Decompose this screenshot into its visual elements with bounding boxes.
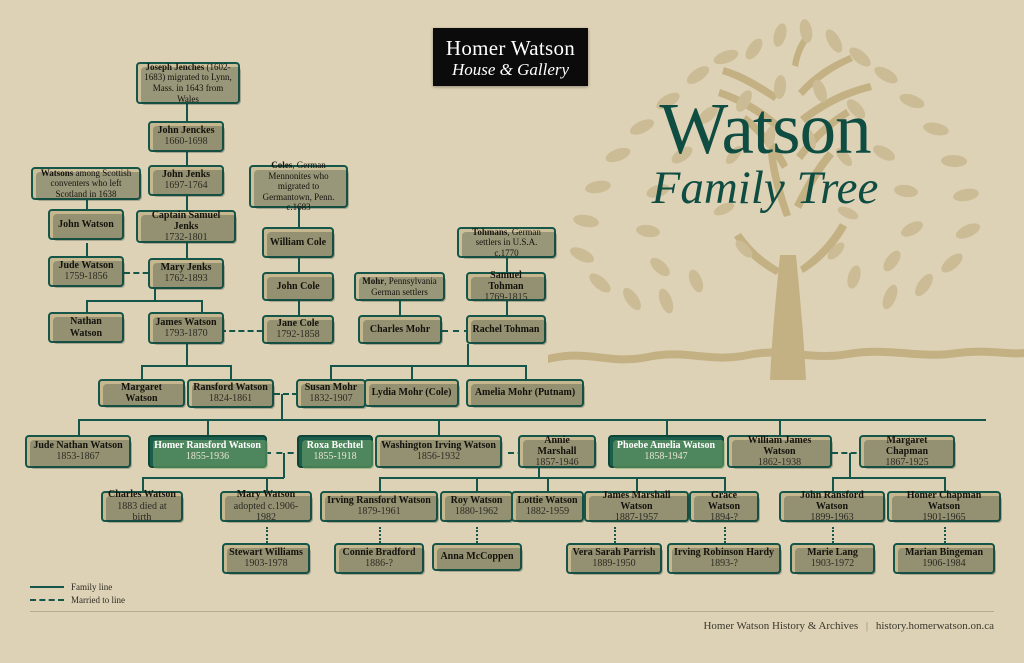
node-amelia-mohr[interactable]: Amelia Mohr (Putnam) xyxy=(466,379,584,407)
node-james-marshall-watson-dates: 1887-1957 xyxy=(615,512,658,524)
node-coles-note-text: Coles, German Mennonites who migrated to… xyxy=(255,160,342,213)
node-jude-nathan-watson[interactable]: Jude Nathan Watson 1853-1867 xyxy=(25,435,131,468)
node-mohr-note[interactable]: Mohr, Pennsylvania German settlers xyxy=(354,272,445,301)
node-john-ransford-watson-dates: 1899-1963 xyxy=(810,512,853,524)
node-jude-watson-name: Jude Watson xyxy=(58,260,113,271)
node-watsons-note[interactable]: Watsons among Scottish conventers who le… xyxy=(31,167,141,200)
children-bus-mohr xyxy=(330,365,526,367)
connector-to-ransford xyxy=(230,365,232,379)
node-vera-sarah-parrish-name: Vera Sarah Parrish xyxy=(573,547,656,558)
node-john-jenckes[interactable]: John Jenckes 1660-1698 xyxy=(148,121,224,152)
node-jude-nathan-watson-dates: 1853-1867 xyxy=(56,451,99,463)
node-ransford-watson-dates: 1824-1861 xyxy=(209,393,252,405)
connector-to-roy xyxy=(476,477,478,491)
node-stewart-williams[interactable]: Stewart Williams 1903-1978 xyxy=(222,543,310,574)
node-homer-ransford-watson-dates: 1855-1936 xyxy=(186,451,229,463)
node-stewart-williams-dates: 1903-1978 xyxy=(244,558,287,570)
node-phoebe-amelia-watson[interactable]: Phoebe Amelia Watson 1858-1947 xyxy=(608,435,724,468)
node-captain-samuel-jenks-dates: 1732-1801 xyxy=(164,232,207,244)
node-grace-watson[interactable]: Grace Watson 1894-? xyxy=(689,491,759,522)
connector-william-john-cole xyxy=(298,258,300,272)
connector-to-irving-ransford xyxy=(379,477,381,491)
marriage-grace-irving-hardy xyxy=(724,527,726,543)
node-watsons-note-text: Watsons among Scottish conventers who le… xyxy=(37,168,135,200)
node-stewart-williams-name: Stewart Williams xyxy=(229,547,303,558)
node-william-james-watson[interactable]: William James Watson 1862-1938 xyxy=(727,435,832,468)
node-joseph-jenches[interactable]: Joseph Jenches (1602-1683) migrated to L… xyxy=(136,62,240,104)
homer-watson-logo[interactable]: Homer Watson House & Gallery xyxy=(433,28,588,86)
connector-to-washington xyxy=(438,419,440,435)
node-mary-jenks-dates: 1762-1893 xyxy=(164,273,207,285)
node-vera-sarah-parrish[interactable]: Vera Sarah Parrish 1889-1950 xyxy=(566,543,662,574)
connector-ransford-susan-drop xyxy=(281,394,283,420)
connector-to-susan xyxy=(330,365,332,379)
node-jane-cole-name: Jane Cole xyxy=(277,318,319,329)
family-tree-poster: Watson Family Tree Homer Watson House & … xyxy=(0,0,1024,663)
node-margaret-watson[interactable]: Margaret Watson xyxy=(98,379,185,407)
node-vera-sarah-parrish-dates: 1889-1950 xyxy=(592,558,635,570)
node-homer-chapman-watson-name: Homer Chapman Watson xyxy=(893,490,995,512)
children-bus-jude-mary xyxy=(86,300,202,302)
connector-mohr-drop xyxy=(467,344,469,366)
children-bus-main xyxy=(78,419,986,421)
node-captain-samuel-jenks[interactable]: Captain Samuel Jenks 1732-1801 xyxy=(136,210,236,243)
node-annie-marshall-name: Annie Marshall xyxy=(524,435,590,457)
node-john-cole-name: John Cole xyxy=(276,281,319,292)
node-john-jenckes-dates: 1660-1698 xyxy=(164,136,207,148)
node-captain-samuel-jenks-name: Captain Samuel Jenks xyxy=(142,210,230,232)
node-anna-mccoppen[interactable]: Anna McCoppen xyxy=(432,543,522,571)
node-william-cole-name: William Cole xyxy=(270,237,326,248)
connector-samuel-mary xyxy=(186,243,188,258)
node-roy-watson[interactable]: Roy Watson 1880-1962 xyxy=(440,491,513,522)
node-charles-mohr[interactable]: Charles Mohr xyxy=(358,315,442,344)
node-homer-ransford-watson-name: Homer Ransford Watson xyxy=(154,440,261,451)
node-coles-note[interactable]: Coles, German Mennonites who migrated to… xyxy=(249,165,348,208)
node-irving-robinson-hardy[interactable]: Irving Robinson Hardy 1893-? xyxy=(667,543,781,574)
node-washington-irving-watson-dates: 1856-1932 xyxy=(417,451,460,463)
node-homer-chapman-watson-dates: 1901-1965 xyxy=(922,512,965,524)
marriage-john-marie xyxy=(832,527,834,543)
node-lydia-mohr[interactable]: Lydia Mohr (Cole) xyxy=(364,379,459,407)
node-jude-watson-dates: 1759-1856 xyxy=(64,271,107,283)
node-irving-ransford-watson-dates: 1879-1961 xyxy=(357,506,400,518)
node-james-watson[interactable]: James Watson 1793-1870 xyxy=(148,312,224,344)
node-marian-bingeman-name: Marian Bingeman xyxy=(905,547,983,558)
node-marie-lang-dates: 1903-1972 xyxy=(811,558,854,570)
connector-johncole-janecole xyxy=(298,301,300,315)
node-lottie-watson-dates: 1882-1959 xyxy=(526,506,569,518)
node-jane-cole[interactable]: Jane Cole 1792-1858 xyxy=(262,315,334,344)
marriage-irving-connie xyxy=(379,527,381,543)
footer-archive-label: Homer Watson History & Archives xyxy=(703,620,858,632)
node-charles-mohr-name: Charles Mohr xyxy=(370,324,430,335)
title-subtitle: Family Tree xyxy=(600,164,930,213)
node-charles-watson-dates: 1883 died at birth xyxy=(107,501,177,524)
node-roxa-bechtel-name: Roxa Bechtel xyxy=(307,440,363,451)
node-john-jenckes-name: John Jenckes xyxy=(158,125,215,136)
footer-website-link[interactable]: history.homerwatson.on.ca xyxy=(876,620,994,632)
node-roy-watson-dates: 1880-1962 xyxy=(455,506,498,518)
family-line-swatch xyxy=(30,586,64,588)
node-mohr-note-text: Mohr, Pennsylvania German settlers xyxy=(360,276,439,297)
node-james-marshall-watson-name: James Marshall Watson xyxy=(590,490,683,512)
node-irving-ransford-watson[interactable]: Irving Ransford Watson 1879-1961 xyxy=(320,491,438,522)
connector-to-jude-nathan xyxy=(78,419,80,435)
node-john-ransford-watson-name: John Ransford Watson xyxy=(785,490,879,512)
node-marian-bingeman[interactable]: Marian Bingeman 1906-1984 xyxy=(893,543,995,574)
node-connie-bradford-name: Connie Bradford xyxy=(342,547,415,558)
node-susan-mohr-name: Susan Mohr xyxy=(305,382,358,393)
title-main: Watson xyxy=(600,95,930,162)
node-tohmans-note-text: Tohmans, German settlers in U.S.A. c.177… xyxy=(463,227,550,259)
poster-title: Watson Family Tree xyxy=(600,95,930,214)
node-charles-watson-name: Charles Watson xyxy=(108,489,176,500)
node-connie-bradford[interactable]: Connie Bradford 1886-? xyxy=(334,543,424,574)
children-bus-william xyxy=(832,477,944,479)
connector-to-lydia xyxy=(411,365,413,379)
node-nathan-watson[interactable]: Nathan Watson xyxy=(48,312,124,343)
legend-family-label: Family line xyxy=(71,582,112,592)
node-john-jenks-dates: 1697-1764 xyxy=(164,180,207,192)
node-samuel-tohman-dates: 1769-1815 xyxy=(484,292,527,304)
node-lottie-watson-name: Lottie Watson xyxy=(517,495,577,506)
node-james-marshall-watson[interactable]: James Marshall Watson 1887-1957 xyxy=(584,491,689,522)
node-tohmans-note[interactable]: Tohmans, German settlers in U.S.A. c.177… xyxy=(457,227,556,258)
node-ransford-watson-name: Ransford Watson xyxy=(193,382,268,393)
node-mary-watson-name: Mary Watson xyxy=(237,489,295,500)
node-amelia-mohr-name: Amelia Mohr (Putnam) xyxy=(475,387,575,398)
node-homer-ransford-watson[interactable]: Homer Ransford Watson 1855-1936 xyxy=(148,435,267,468)
node-william-james-watson-dates: 1862-1938 xyxy=(758,457,801,469)
connector-homer-roxa-drop xyxy=(283,453,285,478)
node-ransford-watson[interactable]: Ransford Watson 1824-1861 xyxy=(187,379,274,408)
node-margaret-chapman-dates: 1867-1925 xyxy=(885,457,928,469)
node-marian-bingeman-dates: 1906-1984 xyxy=(922,558,965,570)
logo-line-2: House & Gallery xyxy=(433,61,588,80)
connector-to-amelia xyxy=(525,365,527,379)
children-bus-washington xyxy=(379,477,724,479)
children-bus-james xyxy=(141,365,232,367)
node-jude-watson[interactable]: Jude Watson 1759-1856 xyxy=(48,256,124,287)
marriage-homerchapman-marian xyxy=(944,527,946,543)
node-john-jenks[interactable]: John Jenks 1697-1764 xyxy=(148,165,224,196)
connector-to-lottie xyxy=(547,477,549,491)
node-annie-marshall-dates: 1857-1946 xyxy=(535,457,578,469)
node-jane-cole-dates: 1792-1858 xyxy=(276,329,319,341)
node-margaret-chapman[interactable]: Margaret Chapman 1867-1925 xyxy=(859,435,955,468)
node-anna-mccoppen-name: Anna McCoppen xyxy=(440,551,513,562)
node-john-watson-name: John Watson xyxy=(58,219,114,230)
legend-row-married: Married to line xyxy=(30,593,125,606)
node-margaret-watson-name: Margaret Watson xyxy=(104,382,179,404)
connector-mohr-charlesmohr xyxy=(399,301,401,315)
node-grace-watson-name: Grace Watson xyxy=(695,490,753,512)
logo-line-1: Homer Watson xyxy=(433,28,588,61)
node-rachel-tohman-name: Rachel Tohman xyxy=(473,324,540,335)
connector-to-margaret xyxy=(141,365,143,379)
connector-jenches-jenckes xyxy=(186,104,188,121)
node-phoebe-amelia-watson-dates: 1858-1947 xyxy=(644,451,687,463)
footer-separator: | xyxy=(861,620,873,632)
node-james-watson-name: James Watson xyxy=(155,317,216,328)
node-nathan-watson-name: Nathan Watson xyxy=(54,316,118,338)
connector-william-margaret-drop xyxy=(849,453,851,478)
node-mary-jenks[interactable]: Mary Jenks 1762-1893 xyxy=(148,258,224,289)
node-homer-chapman-watson[interactable]: Homer Chapman Watson 1901-1965 xyxy=(887,491,1001,522)
node-irving-robinson-hardy-dates: 1893-? xyxy=(710,558,738,570)
marriage-roy-anna xyxy=(476,527,478,543)
footer: Homer Watson History & Archives | histor… xyxy=(703,620,994,632)
legend: Family line Married to line xyxy=(30,580,125,606)
node-mary-jenks-name: Mary Jenks xyxy=(161,262,212,273)
node-grace-watson-dates: 1894-? xyxy=(710,512,738,524)
node-phoebe-amelia-watson-name: Phoebe Amelia Watson xyxy=(617,440,715,451)
connector-to-william-james xyxy=(779,419,781,435)
node-charles-watson[interactable]: Charles Watson 1883 died at birth xyxy=(101,491,183,522)
node-roxa-bechtel[interactable]: Roxa Bechtel 1855-1918 xyxy=(297,435,373,468)
node-john-jenks-name: John Jenks xyxy=(162,169,210,180)
connector-james-drop xyxy=(186,344,188,366)
node-john-ransford-watson[interactable]: John Ransford Watson 1899-1963 xyxy=(779,491,885,522)
node-john-watson[interactable]: John Watson xyxy=(48,209,124,240)
node-william-cole[interactable]: William Cole xyxy=(262,227,334,258)
node-margaret-chapman-name: Margaret Chapman xyxy=(865,435,949,457)
legend-row-family: Family line xyxy=(30,580,125,593)
node-roy-watson-name: Roy Watson xyxy=(451,495,503,506)
node-irving-ransford-watson-name: Irving Ransford Watson xyxy=(327,495,431,506)
node-irving-robinson-hardy-name: Irving Robinson Hardy xyxy=(674,547,774,558)
node-james-watson-dates: 1793-1870 xyxy=(164,328,207,340)
node-samuel-tohman[interactable]: Samuel Tohman 1769-1815 xyxy=(466,272,546,301)
node-lottie-watson[interactable]: Lottie Watson 1882-1959 xyxy=(511,491,584,522)
children-bus-homer xyxy=(142,477,284,479)
node-washington-irving-watson[interactable]: Washington Irving Watson 1856-1932 xyxy=(375,435,502,468)
node-marie-lang[interactable]: Marie Lang 1903-1972 xyxy=(790,543,875,574)
node-mary-watson-dates: adopted c.1906-1982 xyxy=(226,501,306,524)
node-rachel-tohman[interactable]: Rachel Tohman xyxy=(466,315,546,344)
node-jude-nathan-watson-name: Jude Nathan Watson xyxy=(33,440,122,451)
node-marie-lang-name: Marie Lang xyxy=(807,547,858,558)
node-joseph-jenches-text: Joseph Jenches (1602-1683) migrated to L… xyxy=(142,62,234,104)
node-annie-marshall[interactable]: Annie Marshall 1857-1946 xyxy=(518,435,596,468)
footer-divider xyxy=(30,611,994,612)
married-line-swatch xyxy=(30,599,64,601)
connector-to-homer xyxy=(207,419,209,435)
node-roxa-bechtel-dates: 1855-1918 xyxy=(313,451,356,463)
marriage-mary-stewart xyxy=(266,527,268,543)
node-mary-watson[interactable]: Mary Watson adopted c.1906-1982 xyxy=(220,491,312,522)
node-susan-mohr[interactable]: Susan Mohr 1832-1907 xyxy=(296,379,366,408)
node-william-james-watson-name: William James Watson xyxy=(733,435,826,457)
connector-jenks-samuel xyxy=(186,196,188,210)
node-susan-mohr-dates: 1832-1907 xyxy=(309,393,352,405)
node-washington-irving-watson-name: Washington Irving Watson xyxy=(381,440,496,451)
marriage-james-vera xyxy=(614,527,616,543)
node-samuel-tohman-name: Samuel Tohman xyxy=(472,270,540,292)
node-connie-bradford-dates: 1886-? xyxy=(365,558,393,570)
legend-married-label: Married to line xyxy=(71,595,125,605)
node-john-cole[interactable]: John Cole xyxy=(262,272,334,301)
node-lydia-mohr-name: Lydia Mohr (Cole) xyxy=(372,387,452,398)
connector-to-phoebe xyxy=(666,419,668,435)
